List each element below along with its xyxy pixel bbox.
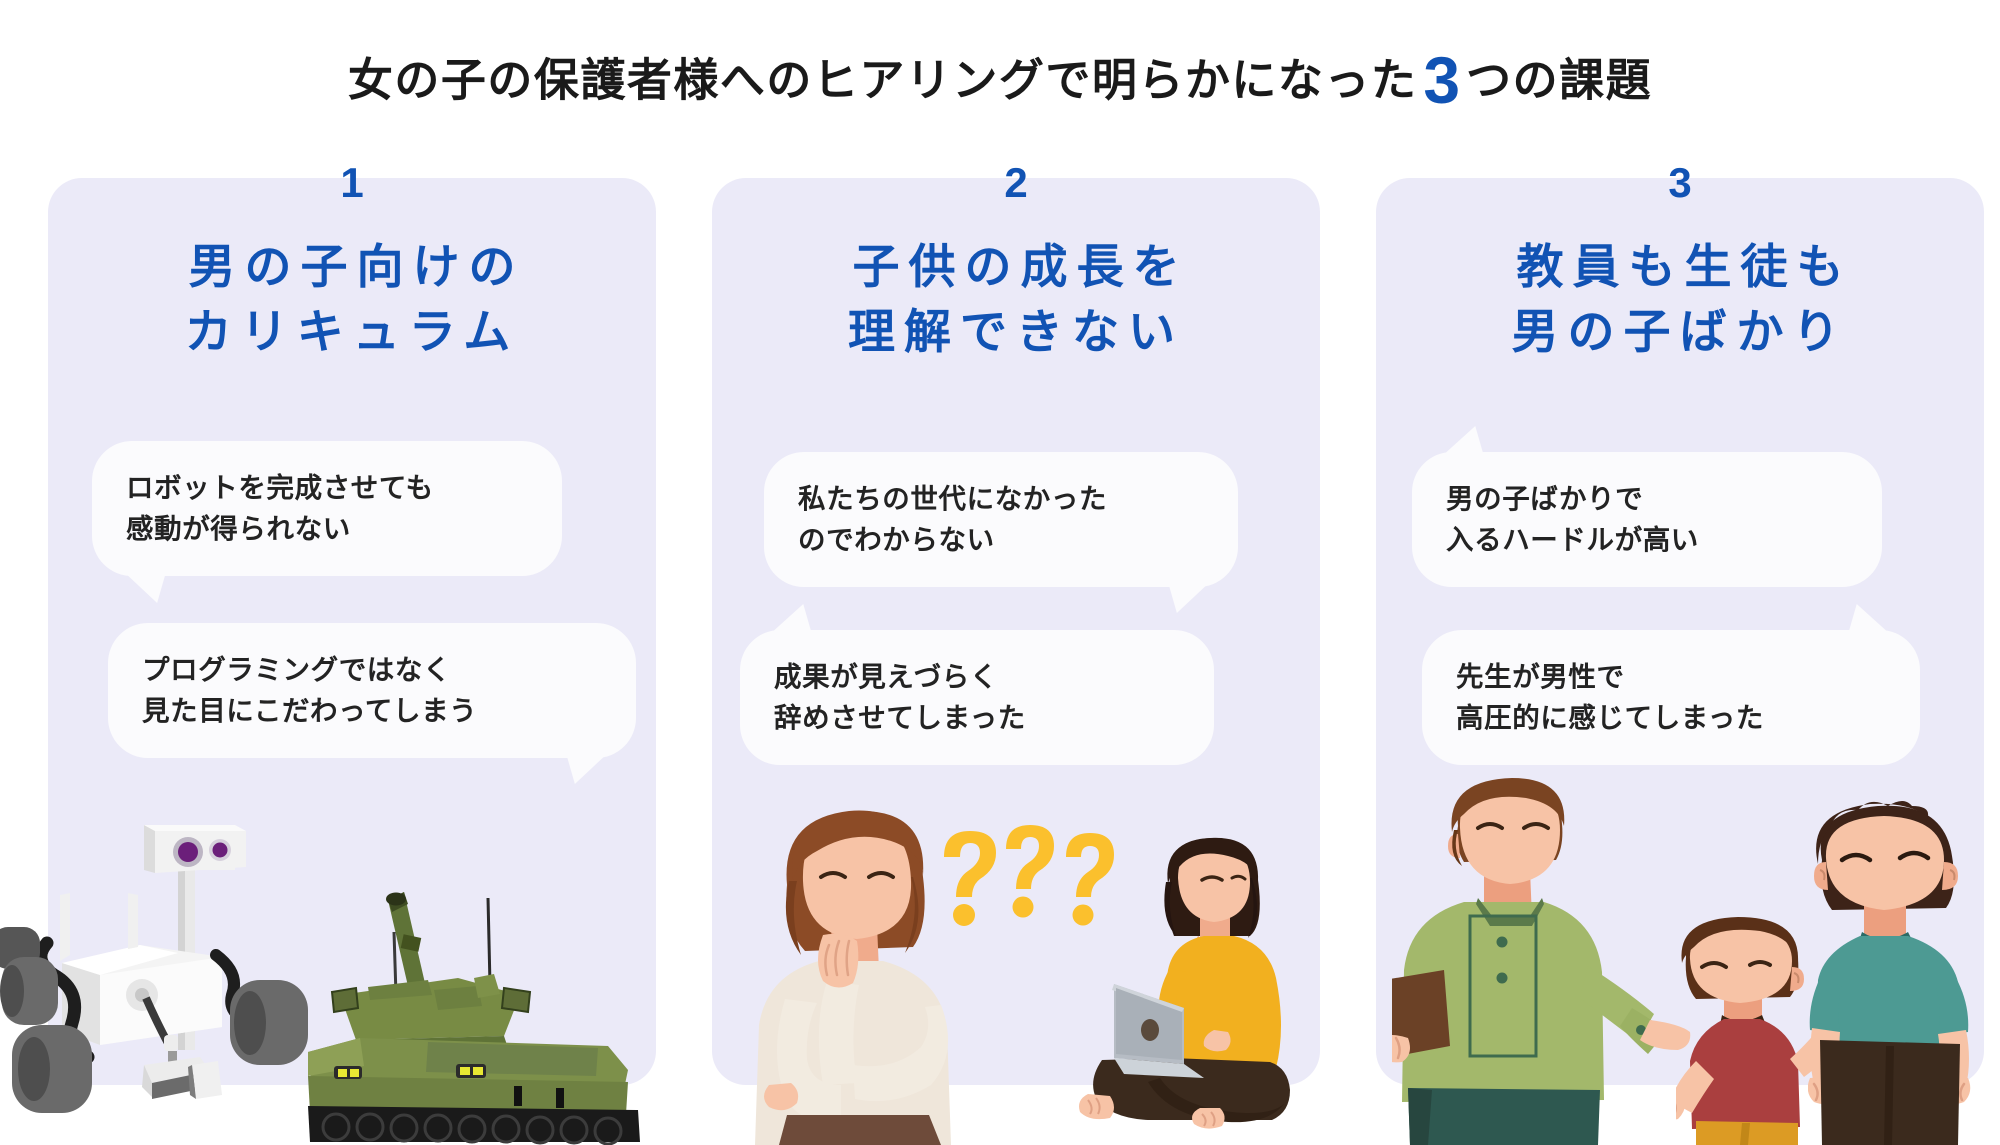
page-title-count: 3	[1417, 43, 1466, 117]
quote-bubble-3-2[interactable]: 先生が男性で 高圧的に感じてしまった	[1422, 630, 1920, 765]
slide-canvas: 女の子の保護者様へのヒアリングで明らかになった3つの課題 1 2 3 男の子向け…	[0, 0, 2000, 1145]
quote-bubble-1-1[interactable]: ロボットを完成させても 感動が得られない	[92, 441, 562, 576]
challenge-number-1: 1	[48, 162, 656, 204]
challenge-heading-3: 教員も生徒も 男の子ばかり	[1376, 235, 1984, 365]
quote-bubble-1-2[interactable]: プログラミングではなく 見た目にこだわってしまう	[108, 623, 636, 758]
page-title-tail: つの課題	[1466, 55, 1652, 106]
quote-bubble-2-2[interactable]: 成果が見えづらく 辞めさせてしまった	[740, 630, 1214, 765]
quote-bubble-3-1[interactable]: 男の子ばかりで 入るハードルが高い	[1412, 452, 1882, 587]
page-title-lead: 女の子の保護者様へのヒアリングで明らかになった	[348, 55, 1418, 106]
challenge-number-2: 2	[712, 162, 1320, 204]
challenge-heading-1: 男の子向けの カリキュラム	[48, 235, 656, 365]
quote-bubble-2-1[interactable]: 私たちの世代になかった のでわからない	[764, 452, 1238, 587]
challenge-number-3: 3	[1376, 162, 1984, 204]
challenge-heading-2: 子供の成長を 理解できない	[712, 235, 1320, 365]
page-title: 女の子の保護者様へのヒアリングで明らかになった3つの課題	[0, 38, 2000, 114]
